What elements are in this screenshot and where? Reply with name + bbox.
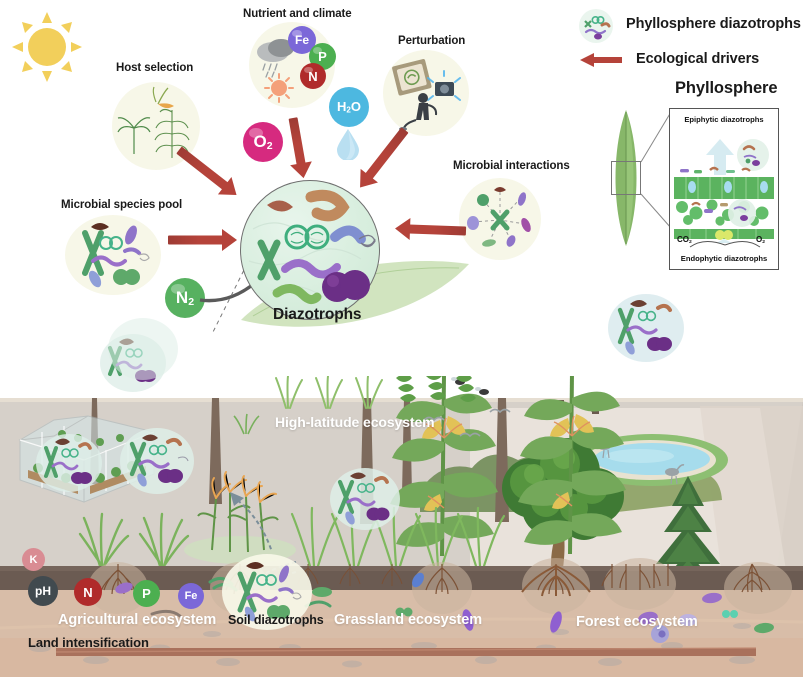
center-node-diazotrophs bbox=[240, 180, 380, 320]
legend-label-ecological-drivers: Ecological drivers bbox=[636, 51, 759, 67]
driver-label-host-selection: Host selection bbox=[116, 62, 193, 74]
driver-label-microbial-interactions: Microbial interactions bbox=[453, 160, 570, 172]
arrow-perturbation-to-center bbox=[359, 130, 405, 188]
nutrient-chip-nitrogen: N bbox=[300, 63, 326, 89]
phyllosphere-bubble-forest-canopy bbox=[608, 294, 684, 362]
inset-co2-label: CO2 bbox=[677, 235, 692, 245]
phyllosphere-bubble-forest bbox=[108, 318, 178, 380]
ecosystem-label-grassland: Grassland ecosystem bbox=[334, 612, 482, 628]
ecosystem-label-agricultural: Agricultural ecosystem bbox=[58, 612, 216, 628]
arrow-host-selection-to-center bbox=[179, 150, 237, 196]
driver-node-perturbation bbox=[383, 50, 469, 136]
inset-o2-label: O2 bbox=[756, 235, 765, 245]
legend-label-phyllosphere-diazotrophs: Phyllosphere diazotrophs bbox=[626, 16, 801, 32]
soil-chip-phosphorus: P bbox=[133, 580, 160, 607]
phyllosphere-bubble-wheat bbox=[36, 434, 102, 492]
phyllosphere-inset-panel: Epiphytic diazotrophs bbox=[669, 108, 779, 270]
sun-icon bbox=[8, 8, 86, 86]
phyllosphere-bubble-grassland bbox=[330, 468, 400, 530]
molecule-oxygen: O2 bbox=[243, 122, 283, 162]
arrow-nutrient-to-center bbox=[293, 118, 304, 179]
driver-node-microbial-interactions bbox=[459, 178, 541, 260]
figure-canvas: Phyllosphere diazotrophs Ecological driv… bbox=[0, 0, 803, 677]
soil-chip-ph: pH bbox=[28, 576, 58, 606]
inset-endophytic-label: Endophytic diazotrophs bbox=[670, 254, 778, 263]
ecosystem-label-forest: Forest ecosystem bbox=[576, 614, 698, 630]
annotation-land-intensification: Land intensification bbox=[28, 635, 149, 650]
ecosystem-label-high-latitude: High-latitude ecosystem bbox=[275, 414, 435, 430]
inset-title: Phyllosphere bbox=[675, 79, 777, 98]
phyllosphere-bubble-agricultural bbox=[120, 428, 194, 494]
driver-label-microbial-species-pool: Microbial species pool bbox=[61, 199, 182, 211]
water-droplet-icon bbox=[335, 128, 361, 160]
arrow-interactions-to-center bbox=[394, 228, 466, 231]
legend: Phyllosphere diazotrophs Ecological driv… bbox=[578, 6, 803, 62]
ecosystem-label-soil-diazotrophs: Soil diazotrophs bbox=[228, 613, 324, 627]
driver-label-nutrient-and-climate: Nutrient and climate bbox=[243, 8, 352, 20]
driver-node-microbial-species-pool bbox=[65, 215, 161, 295]
inset-epiphytic-label: Epiphytic diazotrophs bbox=[670, 115, 778, 124]
gas-exchange-arrows bbox=[686, 237, 764, 251]
legend-microbe-bubble-icon bbox=[578, 8, 614, 44]
soil-chip-nitrogen: N bbox=[74, 578, 102, 606]
leaf-cross-section-illustration bbox=[670, 125, 778, 243]
driver-label-perturbation: Perturbation bbox=[398, 35, 465, 47]
legend-arrow-left-icon bbox=[580, 52, 624, 73]
molecule-water: H2O bbox=[329, 87, 369, 127]
soil-chip-iron: Fe bbox=[178, 583, 204, 609]
soil-chip-potassium: K bbox=[22, 548, 45, 571]
leaf-zoom-selection-box bbox=[611, 161, 641, 195]
inset-connector-lines bbox=[639, 110, 673, 230]
center-label-diazotrophs: Diazotrophs bbox=[273, 306, 361, 324]
